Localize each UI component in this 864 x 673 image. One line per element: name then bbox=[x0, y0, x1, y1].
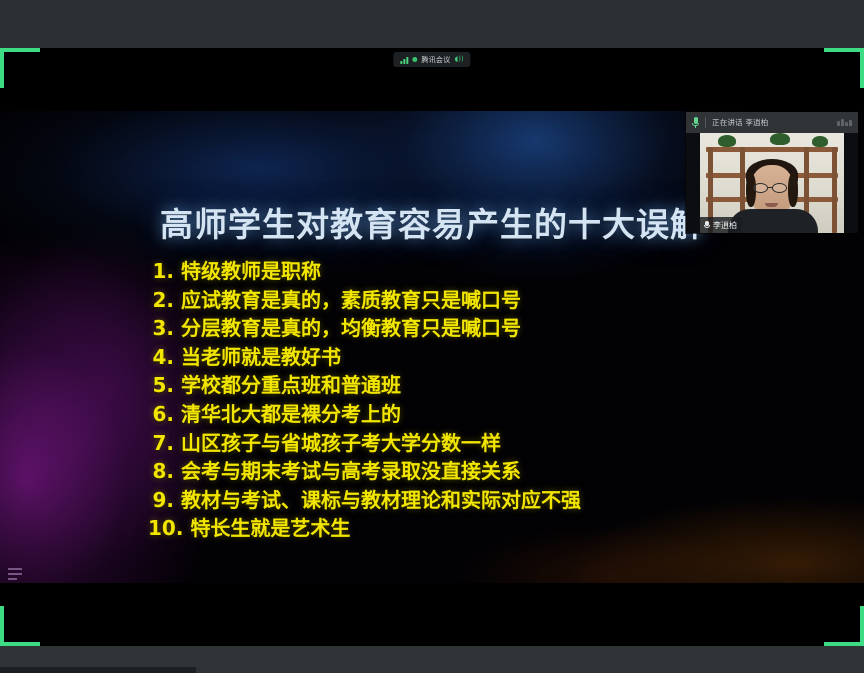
share-border-corner-top-right bbox=[824, 48, 864, 88]
list-item-text: 山区孩子与省城孩子考大学分数一样 bbox=[181, 429, 501, 458]
decor-plant bbox=[812, 136, 828, 147]
taskbar-chip[interactable] bbox=[0, 667, 196, 673]
list-item-text: 分层教育是真的，均衡教育只是喊口号 bbox=[181, 314, 521, 343]
meeting-app-label: 腾讯会议 bbox=[421, 55, 450, 65]
list-item: 9. 教材与考试、课标与教材理论和实际对应不强 bbox=[148, 486, 768, 515]
share-border-corner-bottom-left bbox=[0, 606, 40, 646]
list-item-text: 应试教育是真的，素质教育只是喊口号 bbox=[181, 286, 521, 315]
decor-plant bbox=[770, 133, 790, 145]
list-item: 1. 特级教师是职称 bbox=[148, 257, 768, 286]
list-item: 4. 当老师就是教好书 bbox=[148, 343, 768, 372]
participant-name-label: 李逍柏 bbox=[713, 220, 737, 231]
list-item-number: 5. bbox=[148, 371, 174, 400]
desktop-top-strip bbox=[0, 0, 864, 48]
share-border-corner-top-left bbox=[0, 48, 40, 88]
audio-waveform-icon bbox=[837, 119, 852, 126]
speaking-status-label: 正在讲话 李逍柏 bbox=[712, 117, 768, 128]
list-item-text: 特长生就是艺术生 bbox=[190, 514, 350, 543]
list-item-number: 3. bbox=[148, 314, 174, 343]
video-panel-header: 正在讲话 李逍柏 bbox=[686, 112, 858, 133]
list-item-text: 教材与考试、课标与教材理论和实际对应不强 bbox=[181, 486, 581, 515]
list-item-text: 清华北大都是裸分考上的 bbox=[181, 400, 401, 429]
list-item: 8. 会考与期末考试与高考录取没直接关系 bbox=[148, 457, 768, 486]
list-item-number: 4. bbox=[148, 343, 174, 372]
shared-screen-stage: 高师学生对教育容易产生的十大误解 1. 特级教师是职称 2. 应试教育是真的，素… bbox=[0, 48, 864, 646]
meeting-status-pill[interactable]: 腾讯会议 ◖)) bbox=[393, 52, 470, 67]
list-item-number: 9. bbox=[148, 486, 174, 515]
list-item-text: 学校都分重点班和普通班 bbox=[181, 371, 401, 400]
list-item-text: 当老师就是教好书 bbox=[181, 343, 341, 372]
list-item-number: 10. bbox=[148, 514, 183, 543]
list-item: 6. 清华北大都是裸分考上的 bbox=[148, 400, 768, 429]
share-border-corner-bottom-right bbox=[824, 606, 864, 646]
list-item: 5. 学校都分重点班和普通班 bbox=[148, 371, 768, 400]
bunk-bed-rail bbox=[706, 147, 838, 152]
bunk-bed-post bbox=[832, 147, 837, 233]
list-item: 3. 分层教育是真的，均衡教育只是喊口号 bbox=[148, 314, 768, 343]
signal-bars-icon bbox=[400, 56, 408, 64]
slide-bullet-list: 1. 特级教师是职称 2. 应试教育是真的，素质教育只是喊口号 3. 分层教育是… bbox=[148, 257, 768, 543]
person-hair-right bbox=[788, 173, 798, 207]
list-item-number: 6. bbox=[148, 400, 174, 429]
speaker-video-panel[interactable]: 正在讲话 李逍柏 bbox=[686, 112, 858, 233]
list-item-number: 2. bbox=[148, 286, 174, 315]
glasses-bridge bbox=[768, 187, 772, 188]
speaker-icon[interactable]: ◖)) bbox=[455, 56, 464, 63]
list-item-text: 会考与期末考试与高考录取没直接关系 bbox=[181, 457, 521, 486]
list-item-number: 8. bbox=[148, 457, 174, 486]
list-item: 2. 应试教育是真的，素质教育只是喊口号 bbox=[148, 286, 768, 315]
glasses-right-lens bbox=[772, 183, 787, 193]
microphone-icon bbox=[704, 221, 710, 230]
list-item-text: 特级教师是职称 bbox=[181, 257, 321, 286]
participant-name-badge: 李逍柏 bbox=[700, 217, 742, 233]
glasses-left-lens bbox=[753, 183, 768, 193]
divider bbox=[705, 117, 706, 128]
menu-lines-icon bbox=[8, 568, 24, 580]
list-item-number: 7. bbox=[148, 429, 174, 458]
decor-plant bbox=[718, 135, 736, 147]
list-item: 7. 山区孩子与省城孩子考大学分数一样 bbox=[148, 429, 768, 458]
list-item: 10. 特长生就是艺术生 bbox=[148, 514, 768, 543]
recording-dot-icon bbox=[412, 57, 417, 62]
list-item-number: 1. bbox=[148, 257, 174, 286]
microphone-icon bbox=[692, 117, 699, 128]
person-mouth bbox=[765, 203, 778, 207]
